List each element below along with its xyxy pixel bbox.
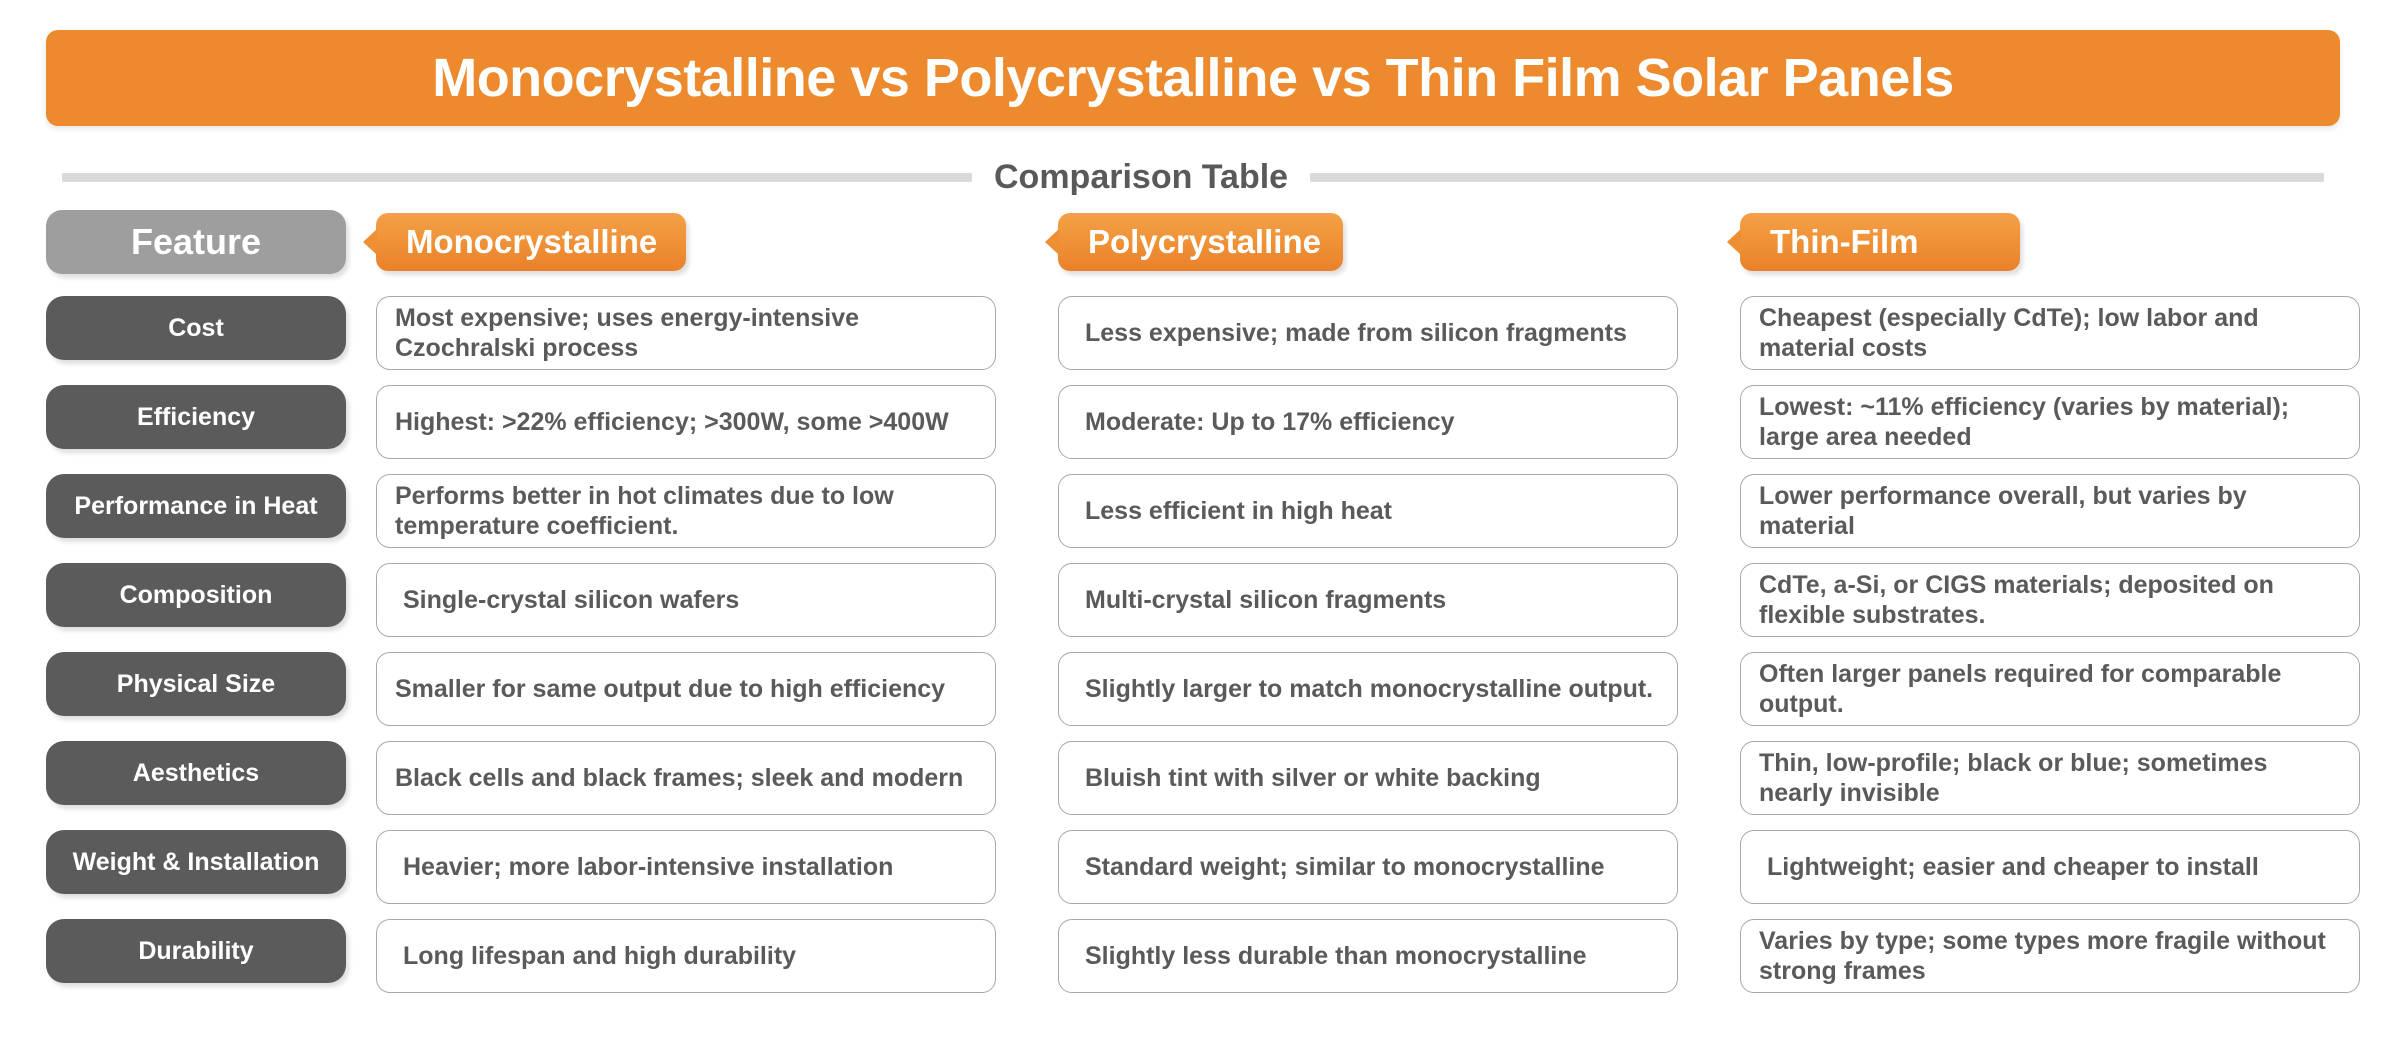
column-header-thin-film: Thin-Film xyxy=(1740,213,2020,271)
cell-monocrystalline: Smaller for same output due to high effi… xyxy=(376,652,996,726)
cell-polycrystalline: Bluish tint with silver or white backing xyxy=(1058,741,1678,815)
cell-thin-film: Cheapest (especially CdTe); low labor an… xyxy=(1740,296,2360,370)
feature-label: Efficiency xyxy=(46,385,346,449)
cell-polycrystalline: Moderate: Up to 17% efficiency xyxy=(1058,385,1678,459)
table-row: Weight & Installation Heavier; more labo… xyxy=(0,830,2386,919)
comparison-table: Feature Monocrystalline Polycrystalline … xyxy=(0,210,2386,1008)
cell-monocrystalline: Black cells and black frames; sleek and … xyxy=(376,741,996,815)
cell-monocrystalline: Heavier; more labor-intensive installati… xyxy=(376,830,996,904)
feature-label: Cost xyxy=(46,296,346,360)
cell-polycrystalline: Standard weight; similar to monocrystall… xyxy=(1058,830,1678,904)
page-title: Monocrystalline vs Polycrystalline vs Th… xyxy=(432,47,1954,109)
cell-thin-film: Lightweight; easier and cheaper to insta… xyxy=(1740,830,2360,904)
table-row: Cost Most expensive; uses energy-intensi… xyxy=(0,296,2386,385)
table-row: Composition Single-crystal silicon wafer… xyxy=(0,563,2386,652)
subtitle-row: Comparison Table xyxy=(62,152,2324,202)
divider-right xyxy=(1310,173,2324,182)
feature-label: Performance in Heat xyxy=(46,474,346,538)
cell-monocrystalline: Most expensive; uses energy-intensive Cz… xyxy=(376,296,996,370)
table-row: Efficiency Highest: >22% efficiency; >30… xyxy=(0,385,2386,474)
divider-left xyxy=(62,173,972,182)
cell-monocrystalline: Highest: >22% efficiency; >300W, some >4… xyxy=(376,385,996,459)
cell-monocrystalline: Single-crystal silicon wafers xyxy=(376,563,996,637)
cell-polycrystalline: Less expensive; made from silicon fragme… xyxy=(1058,296,1678,370)
cell-polycrystalline: Multi-crystal silicon fragments xyxy=(1058,563,1678,637)
subtitle: Comparison Table xyxy=(994,158,1288,197)
cell-thin-film: Thin, low-profile; black or blue; someti… xyxy=(1740,741,2360,815)
cell-monocrystalline: Long lifespan and high durability xyxy=(376,919,996,993)
cell-polycrystalline: Slightly less durable than monocrystalli… xyxy=(1058,919,1678,993)
cell-polycrystalline: Less efficient in high heat xyxy=(1058,474,1678,548)
column-header-feature: Feature xyxy=(46,210,346,274)
table-header-row: Feature Monocrystalline Polycrystalline … xyxy=(0,210,2386,296)
feature-label: Weight & Installation xyxy=(46,830,346,894)
table-row: Aesthetics Black cells and black frames;… xyxy=(0,741,2386,830)
cell-thin-film: Varies by type; some types more fragile … xyxy=(1740,919,2360,993)
feature-label: Physical Size xyxy=(46,652,346,716)
cell-thin-film: Lowest: ~11% efficiency (varies by mater… xyxy=(1740,385,2360,459)
cell-thin-film: Often larger panels required for compara… xyxy=(1740,652,2360,726)
column-header-monocrystalline: Monocrystalline xyxy=(376,213,686,271)
table-row: Durability Long lifespan and high durabi… xyxy=(0,919,2386,1008)
cell-thin-film: Lower performance overall, but varies by… xyxy=(1740,474,2360,548)
cell-thin-film: CdTe, a-Si, or CIGS materials; deposited… xyxy=(1740,563,2360,637)
column-header-polycrystalline: Polycrystalline xyxy=(1058,213,1343,271)
table-row: Physical Size Smaller for same output du… xyxy=(0,652,2386,741)
cell-polycrystalline: Slightly larger to match monocrystalline… xyxy=(1058,652,1678,726)
cell-monocrystalline: Performs better in hot climates due to l… xyxy=(376,474,996,548)
title-banner: Monocrystalline vs Polycrystalline vs Th… xyxy=(46,30,2340,126)
feature-label: Durability xyxy=(46,919,346,983)
feature-label: Composition xyxy=(46,563,346,627)
feature-label: Aesthetics xyxy=(46,741,346,805)
table-row: Performance in Heat Performs better in h… xyxy=(0,474,2386,563)
